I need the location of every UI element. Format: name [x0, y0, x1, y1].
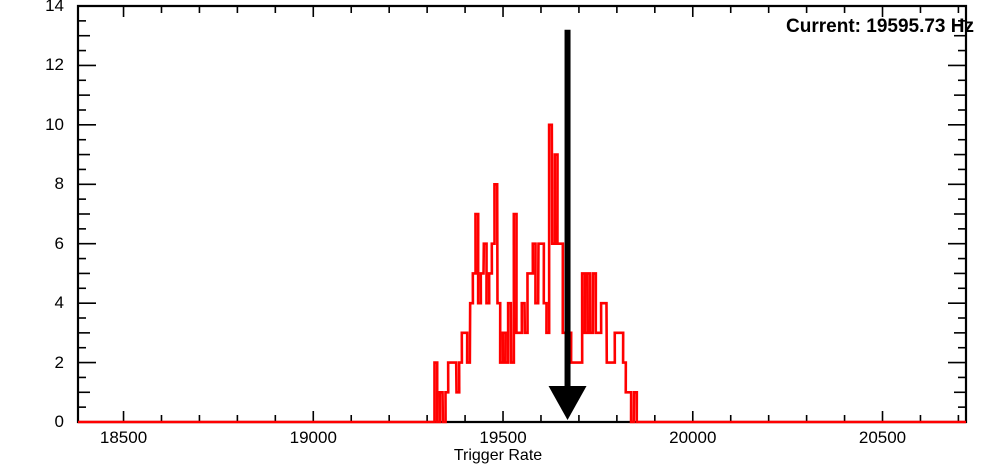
x-axis-tick-label: 20000: [633, 428, 753, 448]
histogram-outline: [78, 125, 966, 422]
y-axis-tick-label: 4: [18, 293, 64, 313]
x-axis-tick-label: 19500: [443, 428, 563, 448]
x-axis-tick-label: 20500: [823, 428, 943, 448]
current-rate-arrow-head: [549, 386, 587, 420]
plot-svg: [0, 0, 996, 472]
histogram-canvas: 02468101214 1850019000195002000020500 Tr…: [0, 0, 996, 472]
x-axis-title: Trigger Rate: [0, 447, 996, 465]
y-axis-tick-label: 0: [18, 412, 64, 432]
plot-frame: [78, 6, 966, 422]
y-axis-tick-label: 10: [18, 115, 64, 135]
y-axis-tick-label: 6: [18, 234, 64, 254]
y-axis-tick-label: 8: [18, 174, 64, 194]
x-axis-tick-label: 18500: [64, 428, 184, 448]
y-axis-tick-label: 12: [18, 55, 64, 75]
y-axis-tick-label: 14: [18, 0, 64, 16]
current-rate-readout: Current: 19595.73 Hz: [786, 16, 974, 38]
x-axis-tick-label: 19000: [253, 428, 373, 448]
y-axis-tick-label: 2: [18, 353, 64, 373]
